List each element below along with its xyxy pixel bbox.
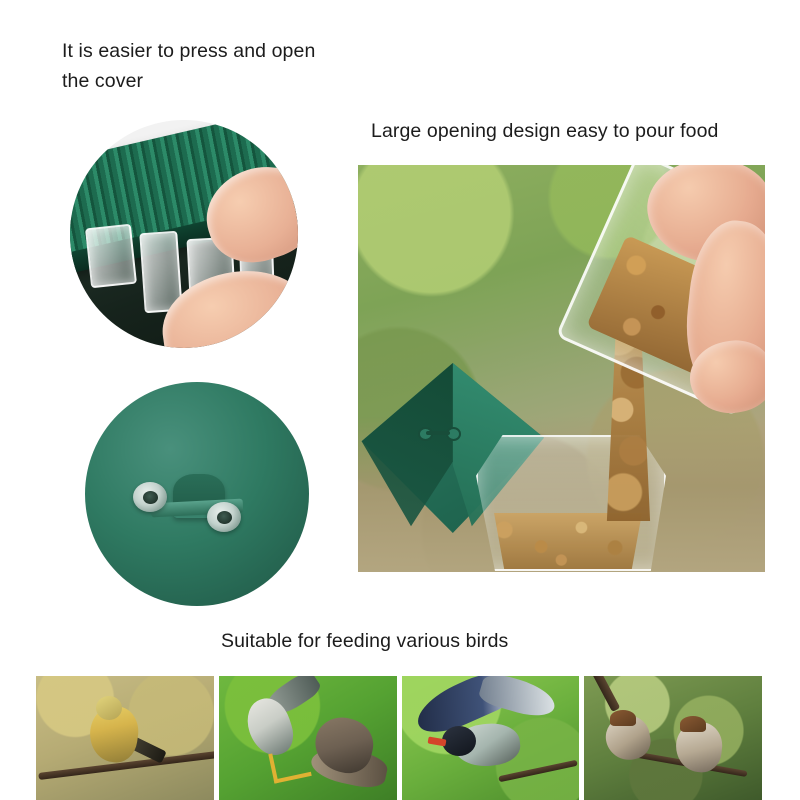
bird-thumbnail-sparrows xyxy=(584,676,762,800)
bird-head xyxy=(680,716,706,732)
bird-thumbnail-greenfinch xyxy=(36,676,214,800)
bird-head xyxy=(442,726,476,756)
bird-thumbnail-strip xyxy=(36,676,762,800)
bird-thumbnail-starlings xyxy=(219,676,397,800)
metal-grommet xyxy=(207,502,241,532)
bird-head xyxy=(610,710,636,726)
bird-head xyxy=(96,696,122,720)
bird-legs xyxy=(268,746,311,783)
caption-press-open-cover: It is easier to press and open the cover xyxy=(62,36,362,96)
branch xyxy=(592,676,621,712)
metal-grommet xyxy=(133,482,167,512)
photo-roof-top-view xyxy=(85,382,309,606)
photo-lid-press-detail xyxy=(70,120,298,348)
bird-wing xyxy=(477,676,559,722)
seed-in-tray xyxy=(484,513,652,569)
caption-large-opening: Large opening design easy to pour food xyxy=(371,116,771,146)
roof-bar xyxy=(426,431,450,435)
branch xyxy=(498,760,577,783)
product-feature-page: It is easier to press and open the cover… xyxy=(0,0,800,800)
clear-snap-clip xyxy=(85,224,137,288)
caption-various-birds: Suitable for feeding various birds xyxy=(221,626,601,656)
bird-thumbnail-magpie xyxy=(402,676,580,800)
photo-pouring-food xyxy=(358,165,765,572)
